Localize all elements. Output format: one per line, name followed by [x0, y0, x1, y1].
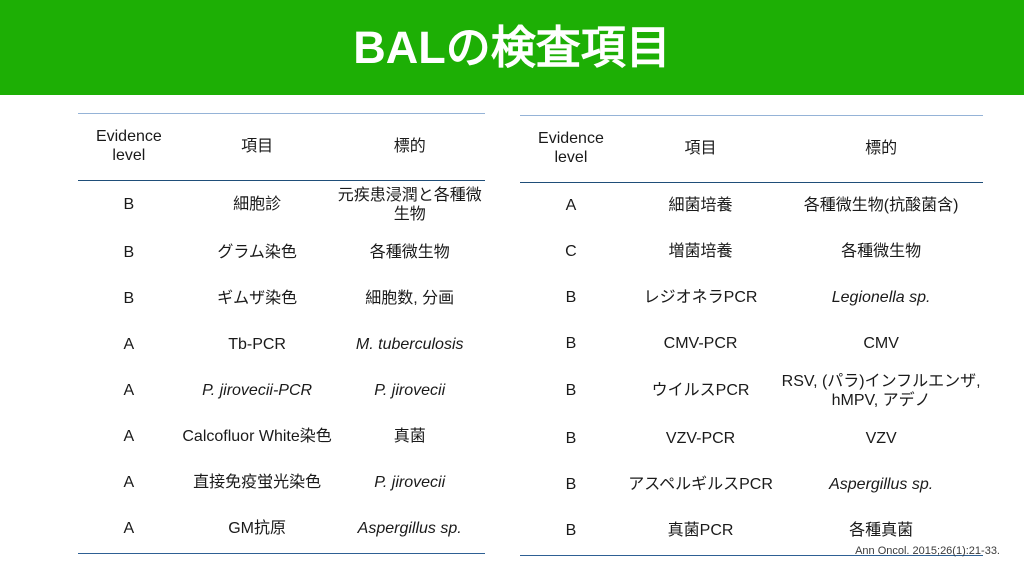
cell-item: 真菌PCR: [622, 509, 779, 556]
cell-target: 各種微生物: [334, 231, 485, 277]
table-row: C増菌培養各種微生物: [520, 229, 983, 275]
cell-item: Calcofluor White染色: [180, 415, 335, 461]
cell-item: Tb-PCR: [180, 323, 335, 369]
cell-item: VZV-PCR: [622, 417, 779, 463]
cell-item: アスペルギルスPCR: [622, 463, 779, 509]
table-row: BレジオネラPCRLegionella sp.: [520, 275, 983, 321]
cell-evidence-level: B: [520, 417, 622, 463]
cell-target: 各種微生物: [779, 229, 983, 275]
right-table-head: Evidence level 項目 標的: [520, 116, 983, 183]
cell-evidence-level: B: [78, 277, 180, 323]
table-row: BCMV-PCRCMV: [520, 321, 983, 367]
citation-text: Ann Oncol. 2015;26(1):21-33.: [855, 545, 1000, 557]
column-header-evidence-level: Evidence level: [520, 116, 622, 183]
slide-body: Evidence level 項目 標的 B細胞診元疾患浸潤と各種微生物Bグラム…: [0, 95, 1024, 576]
table-row: B細胞診元疾患浸潤と各種微生物: [78, 181, 485, 231]
column-header-target: 標的: [334, 114, 485, 181]
cell-target: M. tuberculosis: [334, 323, 485, 369]
cell-item: 直接免疫蛍光染色: [180, 461, 335, 507]
cell-evidence-level: B: [520, 463, 622, 509]
cell-evidence-level: A: [78, 461, 180, 507]
cell-target: Aspergillus sp.: [334, 507, 485, 554]
cell-item: グラム染色: [180, 231, 335, 277]
cell-item: CMV-PCR: [622, 321, 779, 367]
table-header-row: Evidence level 項目 標的: [520, 116, 983, 183]
cell-item: ウイルスPCR: [622, 367, 779, 417]
right-table-body: A細菌培養各種微生物(抗酸菌含)C増菌培養各種微生物BレジオネラPCRLegio…: [520, 183, 983, 556]
cell-evidence-level: C: [520, 229, 622, 275]
left-table-body: B細胞診元疾患浸潤と各種微生物Bグラム染色各種微生物Bギムザ染色細胞数, 分画A…: [78, 181, 485, 554]
cell-item: P. jirovecii-PCR: [180, 369, 335, 415]
cell-item: 増菌培養: [622, 229, 779, 275]
cell-target: 細胞数, 分画: [334, 277, 485, 323]
cell-evidence-level: B: [520, 321, 622, 367]
left-table-container: Evidence level 項目 標的 B細胞診元疾患浸潤と各種微生物Bグラム…: [78, 113, 485, 554]
table-row: Bグラム染色各種微生物: [78, 231, 485, 277]
cell-target: P. jirovecii: [334, 369, 485, 415]
evidence-table-left: Evidence level 項目 標的 B細胞診元疾患浸潤と各種微生物Bグラム…: [78, 113, 485, 554]
cell-target: Aspergillus sp.: [779, 463, 983, 509]
left-table-head: Evidence level 項目 標的: [78, 114, 485, 181]
cell-target: Legionella sp.: [779, 275, 983, 321]
table-row: Bギムザ染色細胞数, 分画: [78, 277, 485, 323]
cell-item: 細胞診: [180, 181, 335, 231]
cell-evidence-level: A: [78, 507, 180, 554]
table-row: A直接免疫蛍光染色P. jirovecii: [78, 461, 485, 507]
table-row: ATb-PCRM. tuberculosis: [78, 323, 485, 369]
column-header-item: 項目: [622, 116, 779, 183]
table-row: BウイルスPCRRSV, (パラ)インフルエンザ, hMPV, アデノ: [520, 367, 983, 417]
right-table-container: Evidence level 項目 標的 A細菌培養各種微生物(抗酸菌含)C増菌…: [520, 115, 983, 556]
cell-item: レジオネラPCR: [622, 275, 779, 321]
table-row: BVZV-PCRVZV: [520, 417, 983, 463]
cell-evidence-level: B: [520, 275, 622, 321]
table-row: BアスペルギルスPCRAspergillus sp.: [520, 463, 983, 509]
cell-evidence-level: B: [78, 231, 180, 277]
cell-evidence-level: A: [78, 369, 180, 415]
cell-evidence-level: B: [78, 181, 180, 231]
cell-evidence-level: A: [520, 183, 622, 230]
cell-evidence-level: A: [78, 323, 180, 369]
cell-target: RSV, (パラ)インフルエンザ, hMPV, アデノ: [779, 367, 983, 417]
cell-evidence-level: B: [520, 509, 622, 556]
cell-target: 元疾患浸潤と各種微生物: [334, 181, 485, 231]
cell-target: CMV: [779, 321, 983, 367]
cell-evidence-level: B: [520, 367, 622, 417]
cell-target: 各種微生物(抗酸菌含): [779, 183, 983, 230]
cell-item: ギムザ染色: [180, 277, 335, 323]
table-row: ACalcofluor White染色真菌: [78, 415, 485, 461]
cell-item: 細菌培養: [622, 183, 779, 230]
cell-target: VZV: [779, 417, 983, 463]
column-header-target: 標的: [779, 116, 983, 183]
cell-evidence-level: A: [78, 415, 180, 461]
cell-item: GM抗原: [180, 507, 335, 554]
table-row: AP. jirovecii-PCRP. jirovecii: [78, 369, 485, 415]
cell-target: P. jirovecii: [334, 461, 485, 507]
cell-target: 真菌: [334, 415, 485, 461]
table-row: A細菌培養各種微生物(抗酸菌含): [520, 183, 983, 230]
table-header-row: Evidence level 項目 標的: [78, 114, 485, 181]
page-title: BALの検査項目: [353, 25, 670, 70]
column-header-item: 項目: [180, 114, 335, 181]
table-row: AGM抗原Aspergillus sp.: [78, 507, 485, 554]
title-banner: BALの検査項目: [0, 0, 1024, 95]
evidence-table-right: Evidence level 項目 標的 A細菌培養各種微生物(抗酸菌含)C増菌…: [520, 115, 983, 556]
column-header-evidence-level: Evidence level: [78, 114, 180, 181]
